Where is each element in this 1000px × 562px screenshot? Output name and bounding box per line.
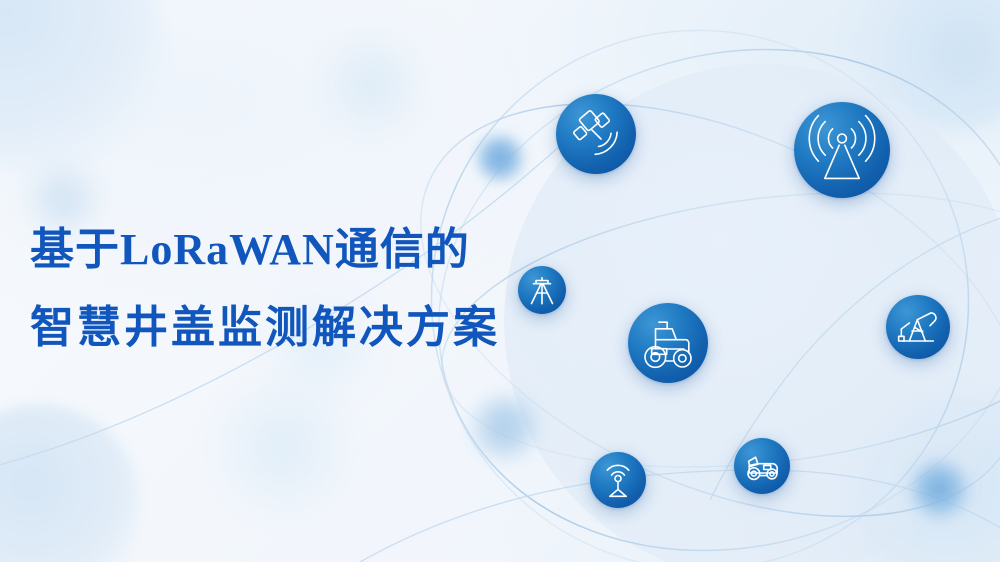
satellite-icon xyxy=(556,94,636,174)
slide-canvas: 基于LoRaWAN通信的 智慧井盖监测解决方案 xyxy=(0,0,1000,562)
node-oil-pump[interactable] xyxy=(886,295,950,359)
radio-tower-icon xyxy=(794,102,890,198)
node-tractor[interactable] xyxy=(628,303,708,383)
oil-pump-icon xyxy=(886,295,950,359)
background-blob-bottom-left xyxy=(0,404,140,562)
node-harvester[interactable] xyxy=(734,438,790,494)
node-satellite[interactable] xyxy=(556,94,636,174)
connector-arc-bottom xyxy=(360,470,1000,562)
node-beacon[interactable] xyxy=(590,452,646,508)
beacon-icon xyxy=(590,452,646,508)
tractor-icon xyxy=(628,303,708,383)
page-title-line-2: 智慧井盖监测解决方案 xyxy=(30,306,590,350)
background-blob-upper-mid xyxy=(316,30,426,140)
node-radio-tower[interactable] xyxy=(794,102,890,198)
accent-dot-right xyxy=(908,458,970,520)
background-blob-lower-mid xyxy=(208,372,358,522)
title-block: 基于LoRaWAN通信的 智慧井盖监测解决方案 xyxy=(30,228,590,350)
page-title-line-1: 基于LoRaWAN通信的 xyxy=(30,228,590,272)
accent-dot-center xyxy=(470,392,540,462)
accent-dot-left xyxy=(474,132,526,184)
background-blob-bottom-right xyxy=(852,392,1000,562)
harvester-icon xyxy=(734,438,790,494)
background-blob-top-left xyxy=(0,0,164,174)
